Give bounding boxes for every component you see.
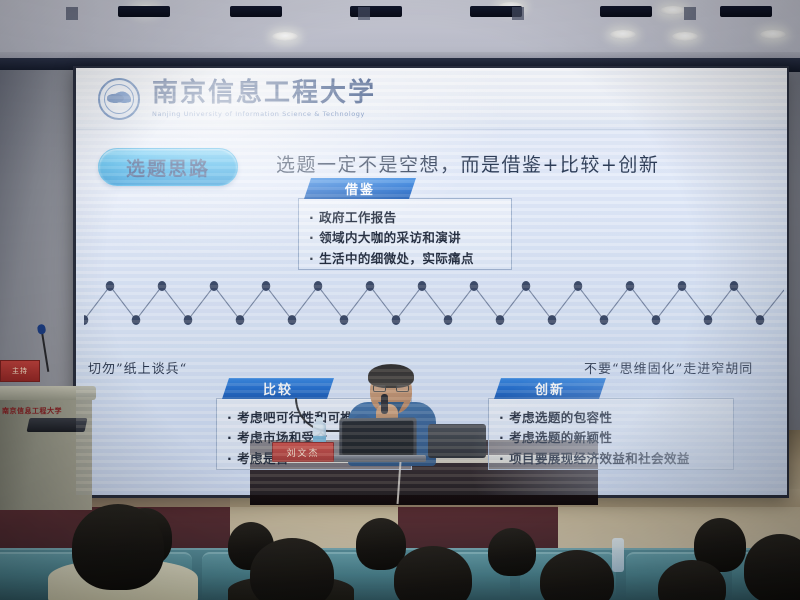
university-name-cn: 南京信息工程大学 bbox=[152, 80, 376, 106]
list-item: 生活中的细微处，实际痛点 bbox=[309, 249, 501, 269]
handheld-microphone-icon bbox=[381, 394, 388, 414]
zigzag-timeline-graphic bbox=[84, 276, 784, 334]
lectern-plate-label: 主持 bbox=[12, 366, 28, 376]
lectern-top bbox=[0, 386, 96, 400]
bullet-list: 政府工作报告 领域内大咖的采访和演讲 生活中的细微处，实际痛点 bbox=[309, 208, 501, 269]
list-item: 项目要展现经济效益和社会效益 bbox=[499, 449, 723, 469]
box-header-jiejian: 借鉴 bbox=[304, 178, 416, 199]
soffit-vent bbox=[358, 7, 370, 20]
downlight-icon bbox=[610, 30, 636, 39]
note-left: 切勿”纸上谈兵“ bbox=[88, 358, 187, 377]
audience-head bbox=[72, 504, 164, 590]
desk-nameplate: 刘文杰 bbox=[272, 442, 334, 462]
list-item: 领域内大咖的采访和演讲 bbox=[309, 228, 501, 248]
lectern-laptop bbox=[27, 418, 88, 432]
downlight-icon bbox=[672, 32, 698, 41]
lecture-hall-photo: 南京信息工程大学 Nanjing University of Informati… bbox=[0, 0, 800, 600]
section-badge: 选题思路 bbox=[98, 148, 238, 186]
university-name-block: 南京信息工程大学 Nanjing University of Informati… bbox=[152, 80, 376, 118]
downlight-icon bbox=[272, 32, 298, 41]
desk-nameplate-label: 刘文杰 bbox=[286, 446, 319, 459]
emblem-mark-icon bbox=[107, 90, 131, 106]
university-emblem-icon bbox=[98, 78, 140, 120]
soffit-slot bbox=[118, 6, 170, 17]
second-laptop bbox=[428, 424, 486, 458]
university-name-en: Nanjing University of Information Scienc… bbox=[152, 110, 376, 118]
laptop-base bbox=[330, 455, 426, 462]
lectern-plate: 主持 bbox=[0, 360, 40, 382]
downlight-icon bbox=[660, 6, 686, 15]
downlight-icon bbox=[760, 30, 786, 39]
speaker-glasses-icon bbox=[373, 385, 409, 392]
slide-header: 南京信息工程大学 Nanjing University of Informati… bbox=[76, 68, 787, 130]
box-header-label: 比较 bbox=[263, 379, 293, 398]
water-bottle-seat bbox=[612, 538, 624, 572]
box-header-bijiao: 比较 bbox=[222, 378, 334, 399]
audience-head bbox=[250, 538, 334, 600]
laptop-screen bbox=[339, 417, 416, 458]
note-right: 不要“思维固化”走进窄胡同 bbox=[584, 358, 753, 377]
soffit-vent bbox=[684, 7, 696, 20]
lectern-sign-text: 南京信息工程大学 bbox=[2, 406, 66, 417]
audience-head bbox=[488, 528, 536, 576]
list-item: 考虑选题的包容性 bbox=[499, 408, 723, 428]
box-header-chuangxin: 创新 bbox=[494, 378, 606, 399]
list-item: 考虑选题的新颖性 bbox=[499, 428, 723, 448]
soffit-slot bbox=[230, 6, 282, 17]
list-item: 政府工作报告 bbox=[309, 208, 501, 228]
slide-title: 选题一定不是空想，而是借鉴+比较+创新 bbox=[276, 150, 659, 177]
soffit-vent bbox=[512, 7, 524, 20]
content-box-jiejian: 政府工作报告 领域内大咖的采访和演讲 生活中的细微处，实际痛点 bbox=[298, 198, 512, 270]
box-header-label: 创新 bbox=[535, 379, 565, 398]
box-header-label: 借鉴 bbox=[345, 179, 375, 198]
section-badge-label: 选题思路 bbox=[126, 154, 210, 181]
soffit-slot bbox=[720, 6, 772, 17]
content-box-chuangxin: 考虑选题的包容性 考虑选题的新颖性 项目要展现经济效益和社会效益 bbox=[488, 398, 734, 470]
soffit-slot bbox=[600, 6, 652, 17]
soffit-vent bbox=[66, 7, 78, 20]
bullet-list: 考虑选题的包容性 考虑选题的新颖性 项目要展现经济效益和社会效益 bbox=[499, 408, 723, 469]
